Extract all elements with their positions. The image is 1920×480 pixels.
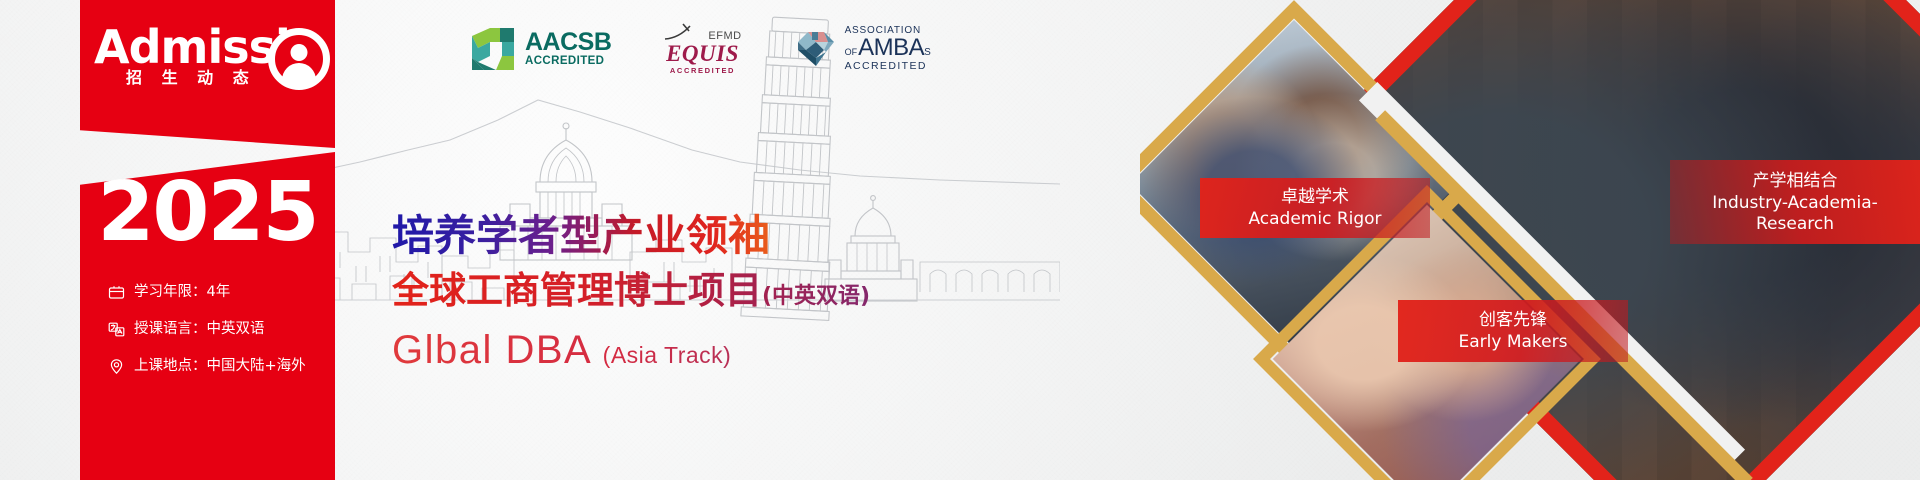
equis-label: EQUIS: [663, 42, 741, 66]
info-label-location: 上课地点：中国大陆+海外: [134, 356, 306, 376]
ribbon-academic: 卓越学术 Academic Rigor: [1200, 178, 1430, 238]
info-label-language: 授课语言：中英双语: [134, 319, 265, 339]
headline-english-title: Glbal DBA (Asia Track): [392, 327, 1032, 378]
ribbon-academic-cn: 卓越学术: [1214, 186, 1416, 209]
headline-slogan: 培养学者型产业领袖: [392, 212, 1032, 260]
headline-english-track: (Asia Track): [603, 342, 732, 368]
photo-collage: 卓越学术 Academic Rigor 产学相结合 Industry-Acade…: [1140, 0, 1920, 480]
ribbon-makers-cn: 创客先锋: [1412, 309, 1614, 332]
aacsb-accredited-label: ACCREDITED: [525, 55, 611, 68]
amba-accredited-label: ACCREDITED: [845, 60, 931, 72]
language-icon: [108, 321, 125, 338]
equis-logo: EFMD EQUIS ACCREDITED: [663, 22, 741, 75]
info-row-language: 授课语言：中英双语: [108, 319, 338, 339]
admission-logo: Admissi 招 生 动 态: [94, 24, 326, 108]
program-info-list: 学习年限：4年 授课语言：中英双语: [108, 282, 338, 393]
headline-program-title-main: 全球工商管理博士项目: [392, 269, 762, 312]
left-red-panel: Admissi 招 生 动 态 2025 学习年限：4年: [80, 0, 335, 480]
amba-diamond-icon: [794, 28, 838, 70]
equis-swoosh-icon: [663, 22, 703, 42]
ribbon-makers: 创客先锋 Early Makers: [1398, 300, 1628, 362]
amba-sup-label: S: [924, 47, 931, 58]
aacsb-mark-icon: [470, 26, 516, 72]
ribbon-industry-cn: 产学相结合: [1684, 170, 1906, 193]
ribbon-industry: 产学相结合 Industry-Academia-Research: [1670, 160, 1920, 244]
aacsb-logo: AACSB ACCREDITED: [470, 26, 611, 72]
person-in-circle-icon: [268, 28, 330, 90]
headline-program-title: 全球工商管理博士项目(中英双语): [392, 269, 1032, 319]
info-row-location: 上课地点：中国大陆+海外: [108, 356, 338, 376]
ribbon-makers-en: Early Makers: [1412, 332, 1614, 353]
info-label-duration: 学习年限：4年: [134, 282, 230, 302]
amba-logo: ASSOCIATION OF AMBA S ACCREDITED: [794, 25, 931, 72]
ribbon-industry-en: Industry-Academia-Research: [1684, 193, 1906, 235]
headline-english-main: Glbal DBA: [392, 328, 590, 372]
aacsb-label: AACSB: [525, 30, 611, 55]
ribbon-academic-en: Academic Rigor: [1214, 209, 1416, 230]
accreditation-logo-row: AACSB ACCREDITED EFMD EQUIS ACCREDITED: [470, 22, 931, 75]
location-pin-icon: [108, 358, 125, 375]
headline-block: 培养学者型产业领袖 全球工商管理博士项目(中英双语) Glbal DBA (As…: [392, 212, 1032, 378]
amba-label: AMBA: [858, 36, 924, 60]
headline-program-title-paren: (中英双语): [762, 284, 870, 309]
year-label: 2025: [80, 172, 335, 254]
admission-banner: AACSB ACCREDITED EFMD EQUIS ACCREDITED: [0, 0, 1920, 480]
amba-of-label: OF: [845, 47, 858, 57]
info-row-duration: 学习年限：4年: [108, 282, 338, 302]
equis-accredited-label: ACCREDITED: [663, 66, 741, 75]
calendar-icon: [108, 284, 125, 301]
